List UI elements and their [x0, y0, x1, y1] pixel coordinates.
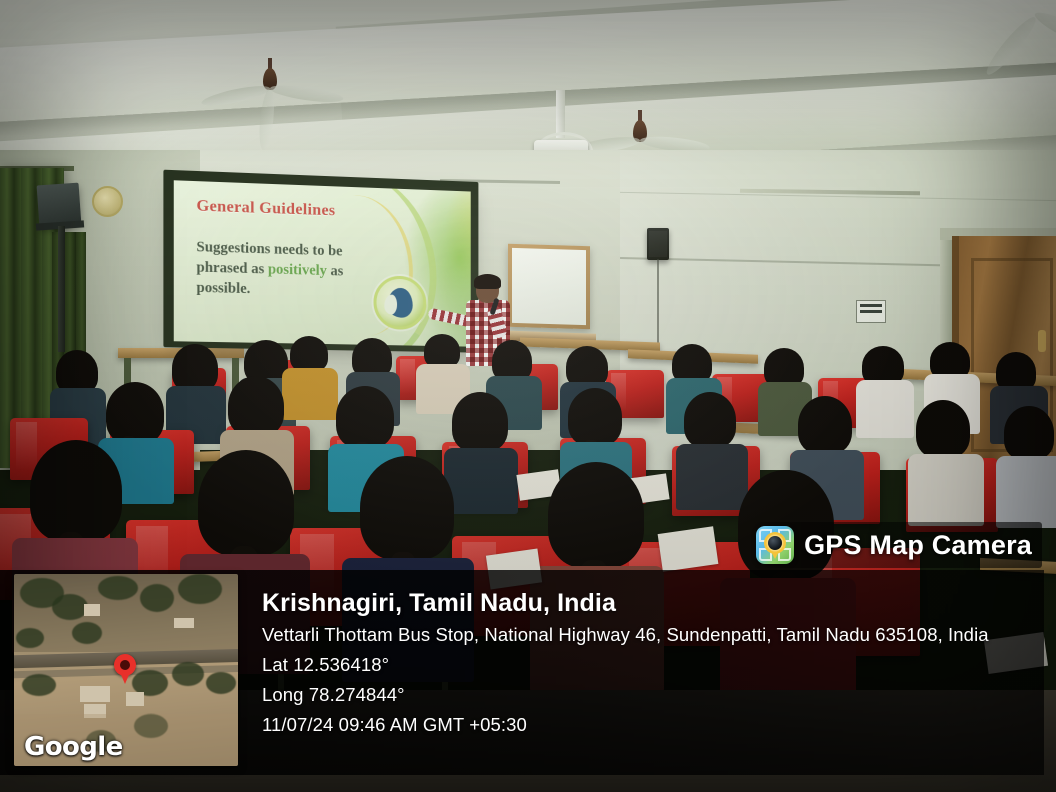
map-thumbnail[interactable]: Google: [14, 574, 238, 766]
timestamp-value: 11/07/24 09:46 AM GMT +05:30: [262, 710, 1044, 740]
gps-text-block: Krishnagiri, Tamil Nadu, India Vettarli …: [238, 570, 1044, 775]
projection-screen: General Guidelines Suggestions needs to …: [174, 180, 471, 346]
slide-body-text: Suggestions needs to be phrased as posit…: [196, 237, 387, 302]
google-watermark: Google: [24, 732, 123, 762]
ceiling-fan-icon: [1000, 0, 1056, 50]
location-title: Krishnagiri, Tamil Nadu, India: [262, 586, 1044, 620]
map-pin-icon: [114, 654, 136, 676]
longitude-value: Long 78.274844°: [262, 680, 1044, 710]
presenter-hair: [474, 274, 501, 289]
app-name-label: GPS Map Camera: [804, 530, 1032, 561]
ceiling-fan-icon: [240, 58, 300, 118]
screenshot-root: General Guidelines Suggestions needs to …: [0, 0, 1056, 792]
latitude-value: Lat 12.536418°: [262, 650, 1044, 680]
speaker-icon: [647, 228, 669, 260]
wall-clock-icon: [92, 186, 123, 217]
gps-info-panel: Google Krishnagiri, Tamil Nadu, India Ve…: [0, 570, 1044, 775]
gps-map-camera-watermark: GPS Map Camera: [750, 522, 1042, 568]
slide-title: General Guidelines: [196, 197, 335, 220]
location-address: Vettarli Thottam Bus Stop, National High…: [262, 620, 1022, 650]
slide-body-highlight: positively: [268, 261, 327, 279]
gps-map-camera-icon: [756, 526, 794, 564]
wall-sign: [856, 300, 886, 323]
presentation-slide: General Guidelines Suggestions needs to …: [174, 180, 471, 346]
handout-paper: [658, 526, 719, 571]
head-profile-logo-icon: [374, 275, 427, 330]
projector-mount-pole: [556, 90, 565, 138]
camera-lens-icon: [768, 536, 782, 550]
